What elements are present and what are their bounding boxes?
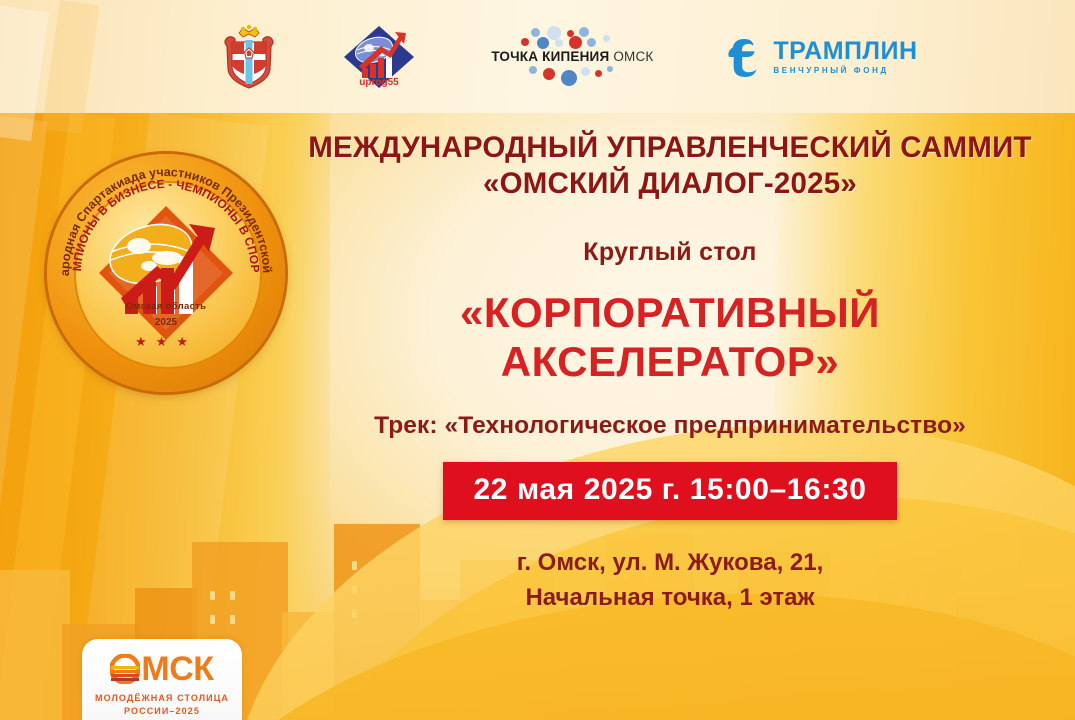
event-format-label: Круглый стол [280,238,1060,267]
spartakiada-emblem: XVI Международная Спартакиада участников… [47,154,285,392]
omsk-sunrise-icon [110,654,140,684]
datetime-badge: 22 мая 2025 г. 15:00–16:30 [443,462,896,520]
emblem-artwork-icon: XVI Международная Спартакиада участников… [47,154,285,392]
title-line-2: «ОМСКИЙ ДИАЛОГ-2025» [280,166,1060,202]
tramplin-sublabel: ВЕНЧУРНЫЙ ФОНД [773,67,917,75]
header-logo-band: uprog55 ТОЧКА КИПЕНИЯ ОМСК [0,0,1075,113]
uprog55-logo-icon: uprog55 [341,24,417,90]
omsk-badge-title: МСК [82,652,242,686]
emblem-stars: ★★★ [47,334,285,350]
omsk-oblast-coat-of-arms-icon [217,24,281,90]
omsk-badge-line-2: РОССИИ–2025 [82,706,242,716]
venue-address: г. Омск, ул. М. Жукова, 21, Начальная то… [280,546,1060,616]
omsk-badge-word: МСК [141,652,213,686]
tramplin-label: ТРАМПЛИН [773,39,917,64]
emblem-year: 2025 [47,317,285,328]
emblem-region: Омская область [47,301,285,312]
headline-line-1: «КОРПОРАТИВНЫЙ [280,289,1060,338]
event-headline: «КОРПОРАТИВНЫЙ АКСЕЛЕРАТОР» [280,289,1060,386]
tramplin-logo-icon: ТРАМПЛИН ВЕНЧУРНЫЙ ФОНД [727,36,917,78]
headline-line-2: АКСЕЛЕРАТОР» [280,338,1060,387]
main-content: МЕЖДУНАРОДНЫЙ УПРАВЛЕНЧЕСКИЙ САММИТ «ОМС… [280,130,1060,616]
venue-line-1: г. Омск, ул. М. Жукова, 21, [280,546,1060,581]
title-line-1: МЕЖДУНАРОДНЫЙ УПРАВЛЕНЧЕСКИЙ САММИТ [280,130,1060,166]
venue-line-2: Начальная точка, 1 этаж [280,581,1060,616]
partner-logos: uprog55 ТОЧКА КИПЕНИЯ ОМСК [217,24,917,90]
tochka-kipeniya-logo-icon: ТОЧКА КИПЕНИЯ ОМСК [477,26,667,88]
page-title: МЕЖДУНАРОДНЫЙ УПРАВЛЕНЧЕСКИЙ САММИТ «ОМС… [280,130,1060,202]
omsk-youth-capital-badge: МСК МОЛОДЁЖНАЯ СТОЛИЦА РОССИИ–2025 [82,639,242,720]
event-track-label: Трек: «Технологическое предпринимательст… [280,412,1060,440]
svg-text:uprog55: uprog55 [360,77,400,88]
poster-root: uprog55 ТОЧКА КИПЕНИЯ ОМСК [0,0,1075,720]
tochka-kipeniya-label: ТОЧКА КИПЕНИЯ ОМСК [477,49,667,64]
omsk-badge-line-1: МОЛОДЁЖНАЯ СТОЛИЦА [82,693,242,703]
